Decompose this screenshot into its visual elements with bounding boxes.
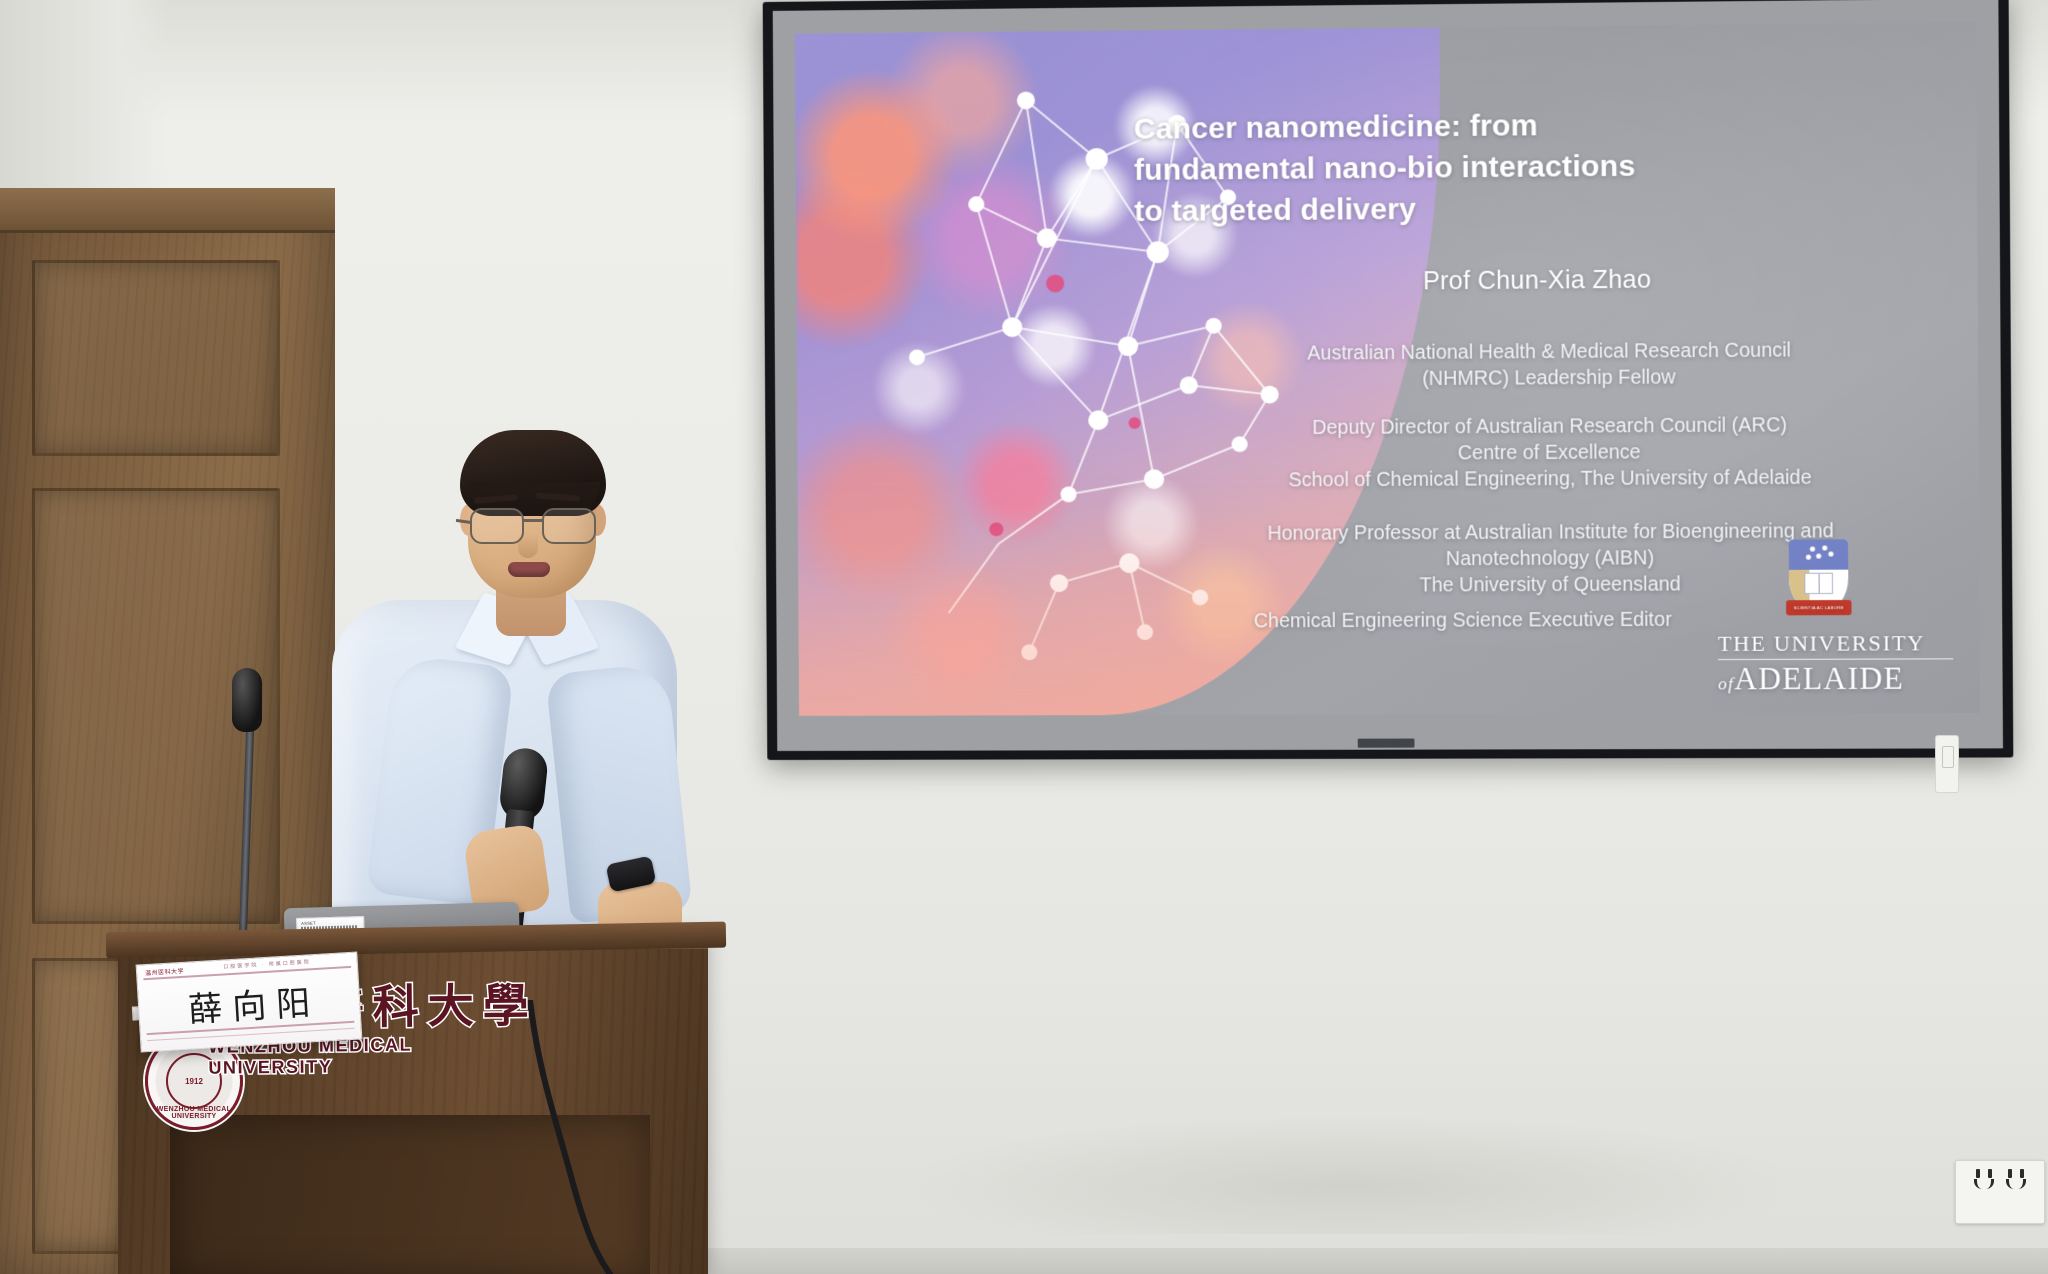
seal-ring-text: WENZHOU MEDICAL UNIVERSITY <box>148 1106 240 1120</box>
wall-switch-plate-icon[interactable] <box>1935 735 1959 793</box>
presenter-mouth <box>508 562 550 577</box>
wall-smudge <box>900 1114 1800 1234</box>
affiliation-nhmrc-line-2: (NHMRC) Leadership Fellow <box>1149 363 1951 394</box>
projection-screen[interactable]: Cancer nanomedicine: from fundamental na… <box>763 0 2014 760</box>
adelaide-logo-line-2: ofADELAIDE <box>1718 660 1953 697</box>
adelaide-logo-name: ADELAIDE <box>1734 661 1904 697</box>
uq-crest-icon: SCIENTIA AC LABORE <box>1789 539 1849 612</box>
adelaide-logo-line-1: THE UNIVERSITY <box>1718 630 1953 657</box>
adelaide-logo-of: of <box>1718 674 1734 693</box>
affiliation-arc-line-3: School of Chemical Engineering, The Univ… <box>1150 464 1952 494</box>
slide-title: Cancer nanomedicine: from fundamental na… <box>1134 103 1743 232</box>
microphone-stand-head-icon <box>232 668 262 732</box>
power-outlet-double-icon[interactable] <box>1955 1160 2045 1224</box>
affiliation-arc: Deputy Director of Australian Research C… <box>1123 411 1978 494</box>
laptop-asset-code: ASSET <box>301 920 316 925</box>
nameplate[interactable]: 温州医科大学 口腔医学院 · 附属口腔医院 薛向阳 <box>136 951 363 1052</box>
photo-scene: Cancer nanomedicine: from fundamental na… <box>0 0 2048 1274</box>
presenter <box>350 430 680 950</box>
power-cable <box>520 1000 690 1274</box>
affiliation-nhmrc: Australian National Health & Medical Res… <box>1123 336 1978 394</box>
slide-text-column: Cancer nanomedicine: from fundamental na… <box>1121 22 1980 715</box>
nameplate-name: 薛向阳 <box>138 973 361 1035</box>
screen-brand-plate <box>1358 739 1415 748</box>
slide-title-line-3: to targeted delivery <box>1134 186 1743 232</box>
slide-title-line-1: Cancer nanomedicine: from <box>1134 103 1743 150</box>
presenter-nose <box>518 534 538 558</box>
slide-author: Prof Chun-Xia Zhao <box>1123 263 1978 298</box>
uq-crest-motto: SCIENTIA AC LABORE <box>1786 600 1851 615</box>
slide-title-line-2: fundamental nano-bio interactions <box>1134 145 1743 191</box>
affiliation-arc-line-2: Centre of Excellence <box>1150 438 1952 468</box>
slide-surface: Cancer nanomedicine: from fundamental na… <box>795 22 1980 716</box>
affiliation-uq: Honorary Professor at Australian Institu… <box>1124 517 1979 599</box>
adelaide-logo: THE UNIVERSITY ofADELAIDE <box>1718 630 1954 697</box>
